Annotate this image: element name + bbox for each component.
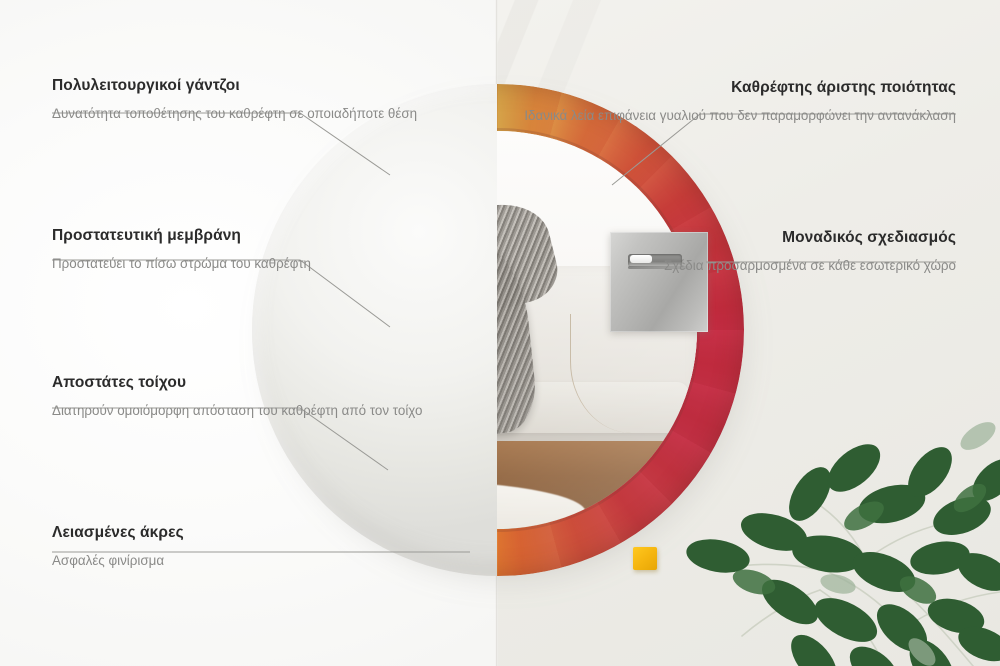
callout-edges-body: Ασφαλές φινίρισμα (52, 551, 184, 570)
callout-design-title: Μοναδικός σχεδιασμός (664, 228, 956, 247)
callout-spacers-title: Αποστάτες τοίχου (52, 373, 422, 392)
callout-spacers-body: Διατηρούν ομοιόμορφη απόσταση του καθρέφ… (52, 401, 422, 420)
callout-membrane-body: Προστατεύει το πίσω στρώμα του καθρέφτη (52, 254, 311, 273)
decorative-plant (678, 376, 1000, 666)
callout-edges: Λειασμένες άκρες Ασφαλές φινίρισμα (52, 523, 184, 570)
callout-quality-body: Ιδανικά λεία επιφάνεια γυαλιού που δεν π… (524, 106, 956, 125)
wall-spacer-chip (633, 547, 657, 570)
plant-foliage-icon (678, 376, 1000, 666)
callout-quality-title: Καθρέφτης άριστης ποιότητας (524, 78, 956, 97)
callout-hooks-title: Πολυλειτουργικοί γάντζοι (52, 76, 417, 95)
callout-edges-title: Λειασμένες άκρες (52, 523, 184, 542)
callout-design-body: Σχέδια προσαρμοσμένα σε κάθε εσωτερικό χ… (664, 256, 956, 275)
callout-design: Μοναδικός σχεδιασμός Σχέδια προσαρμοσμέν… (664, 228, 956, 275)
callout-spacers: Αποστάτες τοίχου Διατηρούν ομοιόμορφη απ… (52, 373, 422, 420)
callout-membrane: Προστατευτική μεμβράνη Προστατεύει το πί… (52, 226, 311, 273)
infographic-canvas: Πολυλειτουργικοί γάντζοι Δυνατότητα τοπο… (0, 0, 1000, 666)
callout-hooks: Πολυλειτουργικοί γάντζοι Δυνατότητα τοπο… (52, 76, 417, 123)
callout-membrane-title: Προστατευτική μεμβράνη (52, 226, 311, 245)
callout-hooks-body: Δυνατότητα τοποθέτησης του καθρέφτη σε ο… (52, 104, 417, 123)
callout-quality: Καθρέφτης άριστης ποιότητας Ιδανικά λεία… (524, 78, 956, 125)
round-mirror-product (252, 84, 744, 576)
